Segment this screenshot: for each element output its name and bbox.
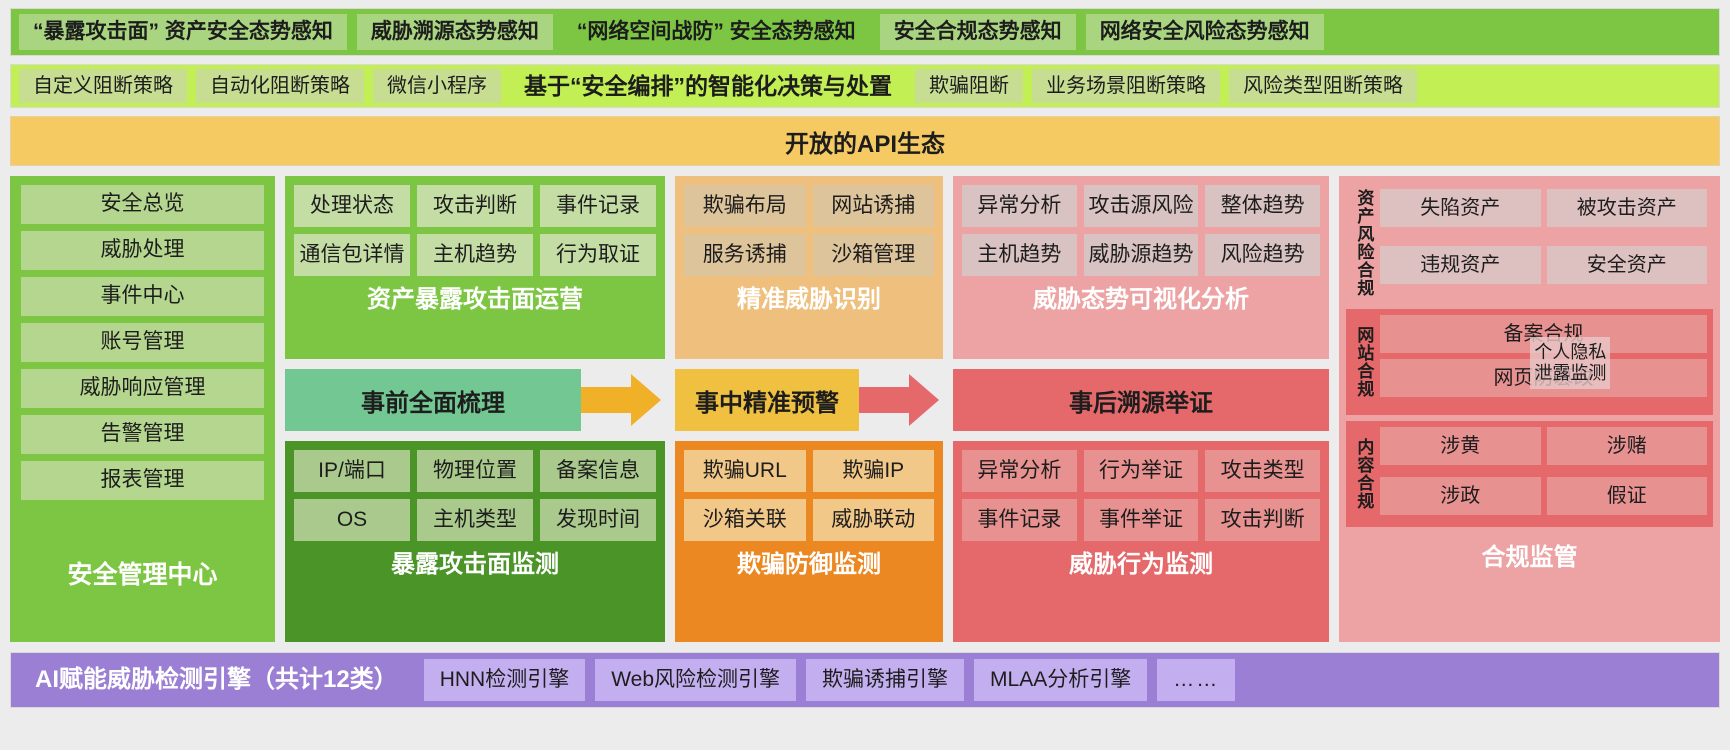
- panel-asset-exposure-ops: 处理状态 攻击判断 事件记录 通信包详情 主机趋势 行为取证 资产暴露攻击面运营: [285, 176, 665, 359]
- cell-fake-credentials[interactable]: 假证: [1547, 477, 1708, 515]
- sidebar-item-security-overview[interactable]: 安全总览: [21, 185, 264, 224]
- engine-bar: AI赋能威胁检测引擎（共计12类） HNN检测引擎 Web风险检测引擎 欺骗诱捕…: [10, 652, 1720, 708]
- sidebar-item-account-management[interactable]: 账号管理: [21, 323, 264, 362]
- cell-noncompliant-asset[interactable]: 违规资产: [1380, 246, 1541, 284]
- cell-os[interactable]: OS: [294, 499, 410, 541]
- cell-sandbox-management[interactable]: 沙箱管理: [813, 234, 935, 276]
- engine-bar-title: AI赋能威胁检测引擎（共计12类）: [19, 659, 414, 701]
- orchestration-item-2[interactable]: 微信小程序: [373, 69, 501, 103]
- sidebar-item-report-management[interactable]: 报表管理: [21, 461, 264, 500]
- cell-event-evidence[interactable]: 事件举证: [1084, 499, 1199, 541]
- orchestration-item-3[interactable]: 基于“安全编排”的智能化决策与处置: [510, 69, 906, 103]
- architecture-diagram-page: “暴露攻击面” 资产安全态势感知 威胁溯源态势感知 “网络空间战防” 安全态势感…: [0, 0, 1730, 750]
- cell-attack-judgement[interactable]: 攻击判断: [417, 185, 533, 227]
- perception-item-1[interactable]: 威胁溯源态势感知: [357, 14, 553, 50]
- cell-deception-layout[interactable]: 欺骗布局: [684, 185, 806, 227]
- panel-precise-threat-identification: 欺骗布局 网站诱捕 服务诱捕 沙箱管理 精准威胁识别: [675, 176, 943, 359]
- threat-situation-column: 异常分析 攻击源风险 整体趋势 主机趋势 威胁源趋势 风险趋势 威胁态势可视化分…: [953, 176, 1329, 642]
- cell-website-trap[interactable]: 网站诱捕: [813, 185, 935, 227]
- compliance-section-asset-risk: 资产风险合规 失陷资产 被攻击资产 违规资产 安全资产: [1346, 183, 1713, 303]
- cell-anomaly-analysis[interactable]: 异常分析: [962, 185, 1077, 227]
- panel-cell-grid: 异常分析 行为举证 攻击类型 事件记录 事件举证 攻击判断: [962, 450, 1320, 541]
- panel-cell-grid: IP/端口 物理位置 备案信息 OS 主机类型 发现时间: [294, 450, 656, 541]
- cell-event-record[interactable]: 事件记录: [962, 499, 1077, 541]
- engine-item-more[interactable]: ……: [1157, 659, 1235, 701]
- cell-behavior-evidence[interactable]: 行为举证: [1084, 450, 1199, 492]
- perception-bar: “暴露攻击面” 资产安全态势感知 威胁溯源态势感知 “网络空间战防” 安全态势感…: [10, 8, 1720, 56]
- cell-gambling[interactable]: 涉赌: [1547, 427, 1708, 465]
- section-label-website-compliance: 网站合规: [1352, 315, 1374, 409]
- cell-attacked-asset[interactable]: 被攻击资产: [1547, 189, 1708, 227]
- cell-attack-type[interactable]: 攻击类型: [1205, 450, 1320, 492]
- compliance-footer-title: 合规监管: [1346, 533, 1713, 578]
- panel-deception-defense-monitor: 欺骗URL 欺骗IP 沙箱关联 威胁联动 欺骗防御监测: [675, 441, 943, 642]
- panel-cell-grid: 欺骗布局 网站诱捕 服务诱捕 沙箱管理: [684, 185, 934, 276]
- security-management-center-column: 安全总览 威胁处理 事件中心 账号管理 威胁响应管理 告警管理 报表管理 安全管…: [10, 176, 275, 642]
- orchestration-item-0[interactable]: 自定义阻断策略: [19, 69, 187, 103]
- section-label-asset-risk-compliance: 资产风险合规: [1352, 189, 1374, 297]
- orchestration-bar: 自定义阻断策略 自动化阻断策略 微信小程序 基于“安全编排”的智能化决策与处置 …: [10, 64, 1720, 108]
- cell-threat-source-trend[interactable]: 威胁源趋势: [1084, 234, 1199, 276]
- sidebar-item-event-center[interactable]: 事件中心: [21, 277, 264, 316]
- orchestration-item-1[interactable]: 自动化阻断策略: [196, 69, 364, 103]
- compliance-section-content: 内容合规 涉黄 涉赌 涉政 假证: [1346, 421, 1713, 527]
- cell-compromised-asset[interactable]: 失陷资产: [1380, 189, 1541, 227]
- cell-packet-detail[interactable]: 通信包详情: [294, 234, 410, 276]
- arrow-right-icon-2: [859, 374, 943, 426]
- cell-deception-url[interactable]: 欺骗URL: [684, 450, 806, 492]
- cell-pornography[interactable]: 涉黄: [1380, 427, 1541, 465]
- cell-behavior-forensics[interactable]: 行为取证: [540, 234, 656, 276]
- compliance-panel: 资产风险合规 失陷资产 被攻击资产 违规资产 安全资产 网站合规 备案合规 网页…: [1339, 176, 1720, 642]
- sidebar-item-threat-handling[interactable]: 威胁处理: [21, 231, 264, 270]
- compliance-column: 资产风险合规 失陷资产 被攻击资产 违规资产 安全资产 网站合规 备案合规 网页…: [1339, 176, 1720, 642]
- stage-band-middle: 事中精准预警: [675, 369, 943, 431]
- main-grid: 安全总览 威胁处理 事件中心 账号管理 威胁响应管理 告警管理 报表管理 安全管…: [10, 176, 1720, 642]
- sidebar-item-threat-response-management[interactable]: 威胁响应管理: [21, 369, 264, 408]
- stage-during-box: 事中精准预警: [675, 369, 859, 431]
- cell-icp-info[interactable]: 备案信息: [540, 450, 656, 492]
- cell-processing-status[interactable]: 处理状态: [294, 185, 410, 227]
- cell-privacy-leak-monitoring[interactable]: 个人隐私泄露监测: [1530, 337, 1610, 389]
- section-cell-grid: 涉黄 涉赌 涉政 假证: [1380, 427, 1707, 521]
- cell-secure-asset[interactable]: 安全资产: [1547, 246, 1708, 284]
- panel-threat-behavior-monitor: 异常分析 行为举证 攻击类型 事件记录 事件举证 攻击判断 威胁行为监测: [953, 441, 1329, 642]
- cell-politics[interactable]: 涉政: [1380, 477, 1541, 515]
- engine-item-mlaa[interactable]: MLAA分析引擎: [974, 659, 1147, 701]
- stage-band-right: 事后溯源举证: [953, 369, 1329, 431]
- orchestration-item-4[interactable]: 欺骗阻断: [915, 69, 1023, 103]
- panel-footer-title: 暴露攻击面监测: [294, 541, 656, 585]
- cell-event-record[interactable]: 事件记录: [540, 185, 656, 227]
- compliance-section-website: 网站合规 备案合规 网页防篡改 个人隐私泄露监测: [1346, 309, 1713, 415]
- panel-cell-grid: 处理状态 攻击判断 事件记录 通信包详情 主机趋势 行为取证: [294, 185, 656, 276]
- sidebar: 安全总览 威胁处理 事件中心 账号管理 威胁响应管理 告警管理 报表管理 安全管…: [10, 176, 275, 642]
- panel-footer-title: 欺骗防御监测: [684, 541, 934, 585]
- api-ecosystem-bar: 开放的API生态: [10, 116, 1720, 166]
- asset-exposure-column: 处理状态 攻击判断 事件记录 通信包详情 主机趋势 行为取证 资产暴露攻击面运营…: [285, 176, 665, 642]
- stage-band-left: 事前全面梳理: [285, 369, 665, 431]
- orchestration-item-6[interactable]: 风险类型阻断策略: [1229, 69, 1417, 103]
- cell-host-trend[interactable]: 主机趋势: [962, 234, 1077, 276]
- cell-physical-location[interactable]: 物理位置: [417, 450, 533, 492]
- cell-threat-linkage[interactable]: 威胁联动: [813, 499, 935, 541]
- cell-sandbox-correlation[interactable]: 沙箱关联: [684, 499, 806, 541]
- arrow-right-icon-1: [581, 374, 665, 426]
- panel-footer-title: 资产暴露攻击面运营: [294, 276, 656, 320]
- panel-footer-title: 精准威胁识别: [684, 276, 934, 320]
- section-cell-grid: 失陷资产 被攻击资产 违规资产 安全资产: [1380, 189, 1707, 297]
- section-cell-stack: 备案合规 网页防篡改 个人隐私泄露监测: [1380, 315, 1707, 409]
- cell-attack-source-risk[interactable]: 攻击源风险: [1084, 185, 1199, 227]
- panel-cell-grid: 欺骗URL 欺骗IP 沙箱关联 威胁联动: [684, 450, 934, 541]
- cell-overall-trend[interactable]: 整体趋势: [1205, 185, 1320, 227]
- cell-discovery-time[interactable]: 发现时间: [540, 499, 656, 541]
- stage-post-box: 事后溯源举证: [953, 369, 1329, 431]
- perception-item-3[interactable]: 安全合规态势感知: [880, 14, 1076, 50]
- precise-threat-column: 欺骗布局 网站诱捕 服务诱捕 沙箱管理 精准威胁识别 事中精准预警 欺骗URL …: [675, 176, 943, 642]
- cell-attack-judgement[interactable]: 攻击判断: [1205, 499, 1320, 541]
- panel-exposure-monitor: IP/端口 物理位置 备案信息 OS 主机类型 发现时间 暴露攻击面监测: [285, 441, 665, 642]
- sidebar-footer-title: 安全管理中心: [21, 507, 264, 638]
- engine-item-web-risk[interactable]: Web风险检测引擎: [595, 659, 796, 701]
- panel-footer-title: 威胁行为监测: [962, 541, 1320, 585]
- panel-footer-title: 威胁态势可视化分析: [962, 276, 1320, 320]
- cell-deception-ip[interactable]: 欺骗IP: [813, 450, 935, 492]
- perception-item-4[interactable]: 网络安全风险态势感知: [1086, 14, 1324, 50]
- engine-item-hnn[interactable]: HNN检测引擎: [424, 659, 586, 701]
- orchestration-item-5[interactable]: 业务场景阻断策略: [1032, 69, 1220, 103]
- cell-anomaly-analysis[interactable]: 异常分析: [962, 450, 1077, 492]
- cell-risk-trend[interactable]: 风险趋势: [1205, 234, 1320, 276]
- perception-item-2[interactable]: “网络空间战防” 安全态势感知: [563, 14, 870, 50]
- panel-threat-situation-visualization: 异常分析 攻击源风险 整体趋势 主机趋势 威胁源趋势 风险趋势 威胁态势可视化分…: [953, 176, 1329, 359]
- cell-host-trend[interactable]: 主机趋势: [417, 234, 533, 276]
- engine-item-deception-trap[interactable]: 欺骗诱捕引擎: [806, 659, 964, 701]
- perception-item-0[interactable]: “暴露攻击面” 资产安全态势感知: [19, 14, 347, 50]
- panel-cell-grid: 异常分析 攻击源风险 整体趋势 主机趋势 威胁源趋势 风险趋势: [962, 185, 1320, 276]
- cell-host-type[interactable]: 主机类型: [417, 499, 533, 541]
- stage-pre-box: 事前全面梳理: [285, 369, 581, 431]
- section-label-content-compliance: 内容合规: [1352, 427, 1374, 521]
- cell-service-trap[interactable]: 服务诱捕: [684, 234, 806, 276]
- cell-ip-port[interactable]: IP/端口: [294, 450, 410, 492]
- sidebar-item-alarm-management[interactable]: 告警管理: [21, 415, 264, 454]
